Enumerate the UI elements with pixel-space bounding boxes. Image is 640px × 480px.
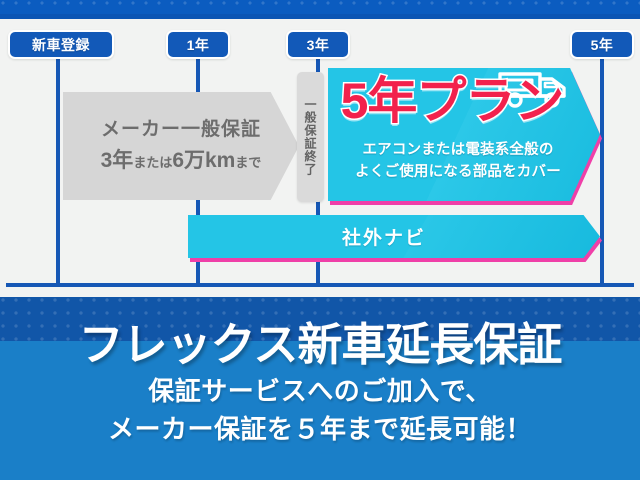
top-dotted-strip [0, 0, 640, 14]
banner-root: メーカー一般保証 3年または6万kmまで 一般保証終了 5年プラン エアコンまた… [0, 0, 640, 480]
timeline-vline-year3 [316, 59, 320, 72]
maker-warranty-block: メーカー一般保証 3年または6万kmまで [63, 92, 299, 200]
plan-description-line2: よくご使用になる部品をカバー [334, 162, 582, 184]
footer-headline: フレックス新車延長保証 [0, 308, 640, 373]
top-accent-line [0, 14, 640, 19]
plan-banner: 5年プラン エアコンまたは電装系全般の よくご使用になる部品をカバー [328, 68, 600, 201]
timeline-vline-year5 [600, 59, 604, 285]
maker-warranty-title: メーカー一般保証 [101, 116, 261, 145]
plan-title: 5年プラン [334, 76, 570, 126]
plan-description-line1: エアコンまたは電装系全般の [334, 140, 582, 162]
footer-subheadline-line1: 保証サービスへのご加入で、 [0, 373, 640, 411]
maker-warranty-distance: 6万km [172, 149, 235, 172]
timeline-vline-registration [56, 59, 60, 285]
plan-description: エアコンまたは電装系全般の よくご使用になる部品をカバー [334, 140, 582, 184]
footer-subheadline-line2: メーカー保証を５年まで延長可能！ [0, 411, 640, 449]
navi-bar: 社外ナビ [188, 215, 600, 258]
maker-warranty-years: 3年 [101, 149, 134, 172]
marker-badge-year-1: 1年 [166, 30, 230, 59]
footer-panel: フレックス新車延長保証 保証サービスへのご加入で、 メーカー保証を５年まで延長可… [0, 297, 640, 480]
footer-subheadline: 保証サービスへのご加入で、 メーカー保証を５年まで延長可能！ [0, 373, 640, 448]
maker-warranty-or: または [133, 155, 172, 170]
navi-bar-label: 社外ナビ [342, 223, 426, 250]
maker-warranty-until: まで [235, 155, 261, 170]
timeline-baseline [6, 283, 634, 287]
marker-badge-year-3: 3年 [286, 30, 350, 59]
warranty-end-pill: 一般保証終了 [297, 72, 324, 202]
marker-badge-new-car-registration: 新車登録 [8, 30, 114, 59]
maker-warranty-detail: 3年または6万kmまで [101, 145, 262, 177]
marker-badge-year-5: 5年 [570, 30, 634, 59]
